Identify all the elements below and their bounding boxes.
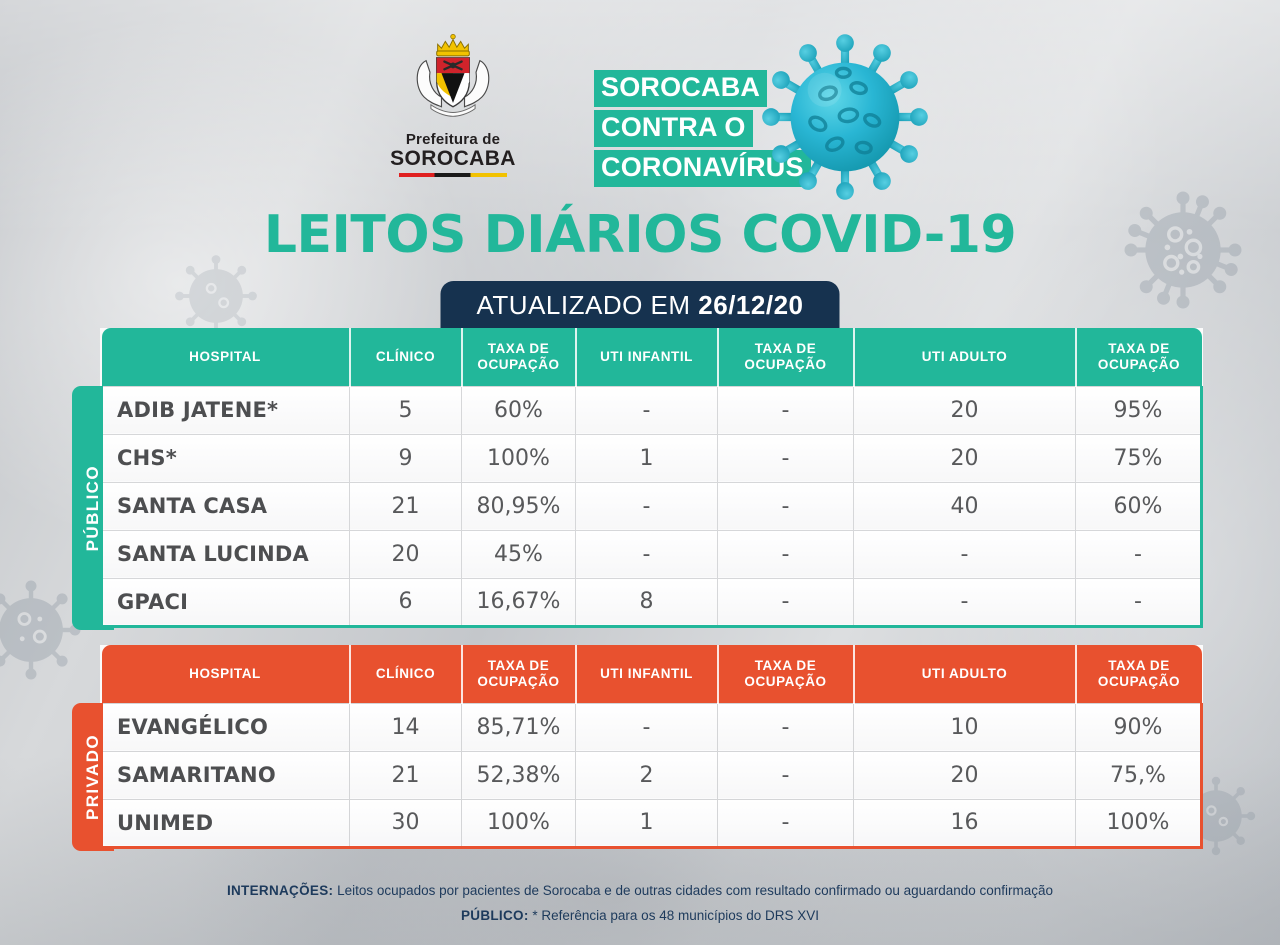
- cell-clinico: 20: [350, 530, 462, 578]
- cell-taxa-infantil: -: [718, 530, 854, 578]
- cell-taxa-infantil: -: [718, 751, 854, 799]
- cell-taxa-adulto: 90%: [1076, 703, 1202, 751]
- col-header-taxa-adulto-l2: OCUPAÇÃO: [1098, 357, 1180, 372]
- table-row: SANTA CASA 21 80,95% - - 40 60%: [102, 482, 1202, 530]
- footer-line-internacoes: INTERNAÇÕES: Leitos ocupados por pacient…: [0, 878, 1280, 904]
- table-row: SAMARITANO 21 52,38% 2 - 20 75,%: [102, 751, 1202, 799]
- col-header-taxa-infantil-l1: TAXA DE: [755, 341, 817, 356]
- col-header-taxa-adulto-l1: TAXA DE: [1108, 658, 1170, 673]
- cell-taxa-adulto: 75,%: [1076, 751, 1202, 799]
- prefeitura-label-line2: SOROCABA: [383, 148, 523, 170]
- cell-clinico: 21: [350, 751, 462, 799]
- cell-uti-infantil: 2: [576, 751, 718, 799]
- cell-taxa-infantil: -: [718, 799, 854, 847]
- cell-uti-infantil: 1: [576, 434, 718, 482]
- cell-clinico: 21: [350, 482, 462, 530]
- table-header-row-privado: HOSPITAL CLÍNICO TAXA DEOCUPAÇÃO UTI INF…: [102, 645, 1202, 703]
- cell-uti-adulto: 40: [854, 482, 1076, 530]
- cell-taxa-clinico: 16,67%: [462, 578, 576, 626]
- date-banner-prefix: ATUALIZADO EM: [477, 290, 699, 320]
- slogan-line-1: SOROCABA: [594, 70, 767, 107]
- table-body-privado: EVANGÉLICO 14 85,71% - - 10 90% SAMARITA…: [102, 703, 1202, 847]
- cell-uti-infantil: -: [576, 530, 718, 578]
- col-header-taxa-infantil-l2: OCUPAÇÃO: [744, 357, 826, 372]
- date-banner: ATUALIZADO EM 26/12/20: [441, 281, 840, 331]
- cell-taxa-clinico: 80,95%: [462, 482, 576, 530]
- cell-taxa-adulto: -: [1076, 530, 1202, 578]
- cell-clinico: 6: [350, 578, 462, 626]
- slogan-line-2: CONTRA O: [594, 110, 753, 147]
- col-header-taxa-adulto-l1: TAXA DE: [1108, 341, 1170, 356]
- table-wrapper-publico: HOSPITAL CLÍNICO TAXA DEOCUPAÇÃO UTI INF…: [100, 328, 1180, 628]
- footer-label-internacoes: INTERNAÇÕES:: [227, 883, 333, 898]
- prefeitura-label-line1: Prefeitura de: [383, 131, 523, 148]
- col-header-taxa-infantil-l2: OCUPAÇÃO: [744, 674, 826, 689]
- cell-taxa-clinico: 100%: [462, 799, 576, 847]
- cell-taxa-infantil: -: [718, 482, 854, 530]
- col-header-clinico: CLÍNICO: [350, 645, 462, 703]
- cell-taxa-clinico: 45%: [462, 530, 576, 578]
- cell-taxa-clinico: 100%: [462, 434, 576, 482]
- cell-taxa-adulto: 75%: [1076, 434, 1202, 482]
- col-header-taxa-adulto-l2: OCUPAÇÃO: [1098, 674, 1180, 689]
- col-header-taxa-clinico-l1: TAXA DE: [488, 341, 550, 356]
- cell-uti-infantil: 1: [576, 799, 718, 847]
- footer-text-publico: * Referência para os 48 municípios do DR…: [529, 908, 819, 923]
- col-header-taxa-infantil: TAXA DEOCUPAÇÃO: [718, 645, 854, 703]
- cell-uti-adulto: 20: [854, 434, 1076, 482]
- col-header-taxa-clinico-l1: TAXA DE: [488, 658, 550, 673]
- cell-hospital: SANTA CASA: [102, 482, 350, 530]
- cell-uti-adulto: -: [854, 578, 1076, 626]
- prefeitura-rule: [399, 173, 507, 177]
- col-header-uti-adulto: UTI ADULTO: [854, 328, 1076, 386]
- table-publico: HOSPITAL CLÍNICO TAXA DEOCUPAÇÃO UTI INF…: [100, 328, 1203, 628]
- col-header-uti-infantil: UTI INFANTIL: [576, 645, 718, 703]
- table-row: GPACI 6 16,67% 8 - - -: [102, 578, 1202, 626]
- cell-taxa-infantil: -: [718, 703, 854, 751]
- col-header-hospital: HOSPITAL: [102, 645, 350, 703]
- col-header-taxa-infantil: TAXA DEOCUPAÇÃO: [718, 328, 854, 386]
- col-header-taxa-clinico: TAXA DEOCUPAÇÃO: [462, 328, 576, 386]
- cell-uti-adulto: -: [854, 530, 1076, 578]
- footer-text-internacoes: Leitos ocupados por pacientes de Sorocab…: [333, 883, 1053, 898]
- cell-taxa-adulto: 100%: [1076, 799, 1202, 847]
- cell-hospital: UNIMED: [102, 799, 350, 847]
- table-row: ADIB JATENE* 5 60% - - 20 95%: [102, 386, 1202, 434]
- cell-uti-adulto: 20: [854, 751, 1076, 799]
- cell-clinico: 30: [350, 799, 462, 847]
- footer-notes: INTERNAÇÕES: Leitos ocupados por pacient…: [0, 878, 1280, 929]
- cell-hospital: SANTA LUCINDA: [102, 530, 350, 578]
- col-header-taxa-clinico: TAXA DEOCUPAÇÃO: [462, 645, 576, 703]
- cell-uti-adulto: 16: [854, 799, 1076, 847]
- col-header-taxa-infantil-l1: TAXA DE: [755, 658, 817, 673]
- cell-uti-infantil: 8: [576, 578, 718, 626]
- cell-hospital: CHS*: [102, 434, 350, 482]
- cell-taxa-infantil: -: [718, 434, 854, 482]
- cell-uti-infantil: -: [576, 386, 718, 434]
- header: Prefeitura de SOROCABA SOROCABA CONTRA O…: [0, 22, 1280, 197]
- table-row: UNIMED 30 100% 1 - 16 100%: [102, 799, 1202, 847]
- col-header-taxa-adulto: TAXA DEOCUPAÇÃO: [1076, 645, 1202, 703]
- col-header-uti-adulto: UTI ADULTO: [854, 645, 1076, 703]
- cell-taxa-infantil: -: [718, 578, 854, 626]
- col-header-taxa-adulto: TAXA DEOCUPAÇÃO: [1076, 328, 1202, 386]
- cell-hospital: GPACI: [102, 578, 350, 626]
- col-header-taxa-clinico-l2: OCUPAÇÃO: [477, 674, 559, 689]
- col-header-uti-infantil: UTI INFANTIL: [576, 328, 718, 386]
- cell-hospital: ADIB JATENE*: [102, 386, 350, 434]
- table-privado: HOSPITAL CLÍNICO TAXA DEOCUPAÇÃO UTI INF…: [100, 645, 1203, 849]
- table-wrapper-privado: HOSPITAL CLÍNICO TAXA DEOCUPAÇÃO UTI INF…: [100, 645, 1180, 849]
- cell-uti-infantil: -: [576, 482, 718, 530]
- cell-clinico: 9: [350, 434, 462, 482]
- cell-taxa-adulto: -: [1076, 578, 1202, 626]
- table-row: SANTA LUCINDA 20 45% - - - -: [102, 530, 1202, 578]
- cell-hospital: SAMARITANO: [102, 751, 350, 799]
- cell-uti-adulto: 20: [854, 386, 1076, 434]
- col-header-taxa-clinico-l2: OCUPAÇÃO: [477, 357, 559, 372]
- table-header-row-publico: HOSPITAL CLÍNICO TAXA DEOCUPAÇÃO UTI INF…: [102, 328, 1202, 386]
- cell-uti-adulto: 10: [854, 703, 1076, 751]
- sorocaba-coat-of-arms-icon: [405, 111, 501, 128]
- footer-label-publico: PÚBLICO:: [461, 908, 529, 923]
- cell-taxa-adulto: 95%: [1076, 386, 1202, 434]
- cell-taxa-clinico: 52,38%: [462, 751, 576, 799]
- date-banner-value: 26/12/20: [698, 290, 803, 320]
- cell-taxa-infantil: -: [718, 386, 854, 434]
- cell-taxa-clinico: 60%: [462, 386, 576, 434]
- cell-uti-infantil: -: [576, 703, 718, 751]
- cell-hospital: EVANGÉLICO: [102, 703, 350, 751]
- cell-taxa-clinico: 85,71%: [462, 703, 576, 751]
- cell-clinico: 14: [350, 703, 462, 751]
- footer-line-publico: PÚBLICO: * Referência para os 48 municíp…: [0, 903, 1280, 929]
- table-body-publico: ADIB JATENE* 5 60% - - 20 95% CHS* 9 100…: [102, 386, 1202, 626]
- cell-clinico: 5: [350, 386, 462, 434]
- col-header-clinico: CLÍNICO: [350, 328, 462, 386]
- col-header-hospital: HOSPITAL: [102, 328, 350, 386]
- prefeitura-logo: Prefeitura de SOROCABA: [383, 28, 523, 177]
- table-row: EVANGÉLICO 14 85,71% - - 10 90%: [102, 703, 1202, 751]
- cell-taxa-adulto: 60%: [1076, 482, 1202, 530]
- table-row: CHS* 9 100% 1 - 20 75%: [102, 434, 1202, 482]
- coronavirus-illustration-icon: [760, 32, 930, 202]
- page-title: LEITOS DIÁRIOS COVID-19: [0, 205, 1280, 265]
